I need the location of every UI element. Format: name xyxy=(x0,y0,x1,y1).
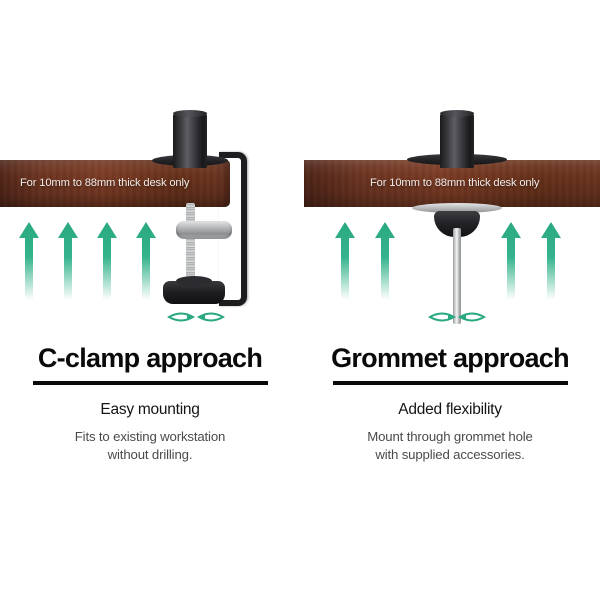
swivel-rotation-icon xyxy=(163,308,229,326)
c-clamp-text-block: C-clamp approach Easy mounting Fits to e… xyxy=(0,344,300,465)
panels-container: For 10mm to 88mm thick desk only xyxy=(0,0,600,480)
up-arrow-icon xyxy=(374,222,396,300)
up-arrow-icon xyxy=(96,222,118,300)
panel-body: Mount through grommet hole with supplied… xyxy=(300,428,600,464)
panel-subtitle: Added flexibility xyxy=(300,401,600,419)
c-clamp-illustration: For 10mm to 88mm thick desk only xyxy=(0,0,300,340)
desk-thickness-label: For 10mm to 88mm thick desk only xyxy=(20,160,189,207)
panel-c-clamp: For 10mm to 88mm thick desk only xyxy=(0,0,300,480)
swivel-rotation-icon xyxy=(424,308,490,326)
clamp-crossbar xyxy=(176,221,232,239)
up-arrow-icon xyxy=(57,222,79,300)
panel-subtitle: Easy mounting xyxy=(0,401,300,419)
panel-heading: C-clamp approach xyxy=(0,344,300,373)
heading-rule xyxy=(333,381,568,385)
up-arrow-icon xyxy=(500,222,522,300)
up-arrow-icon xyxy=(334,222,356,300)
panel-body-line: Fits to existing workstation xyxy=(0,428,300,446)
heading-rule xyxy=(33,381,268,385)
grommet-text-block: Grommet approach Added flexibility Mount… xyxy=(300,344,600,465)
grommet-illustration: For 10mm to 88mm thick desk only xyxy=(300,0,600,340)
panel-body-line: Mount through grommet hole xyxy=(300,428,600,446)
up-arrow-icon xyxy=(540,222,562,300)
mount-post xyxy=(440,113,474,168)
panel-heading: Grommet approach xyxy=(300,344,600,373)
panel-body: Fits to existing workstation without dri… xyxy=(0,428,300,464)
infographic-page: For 10mm to 88mm thick desk only xyxy=(0,0,600,600)
panel-grommet: For 10mm to 88mm thick desk only xyxy=(300,0,600,480)
panel-body-line: without drilling. xyxy=(0,446,300,464)
up-arrow-icon xyxy=(135,222,157,300)
clamp-foot-pad xyxy=(163,281,225,304)
up-arrow-icon xyxy=(18,222,40,300)
panel-body-line: with supplied accessories. xyxy=(300,446,600,464)
clamp-screw xyxy=(186,203,195,285)
mount-post xyxy=(173,113,207,168)
